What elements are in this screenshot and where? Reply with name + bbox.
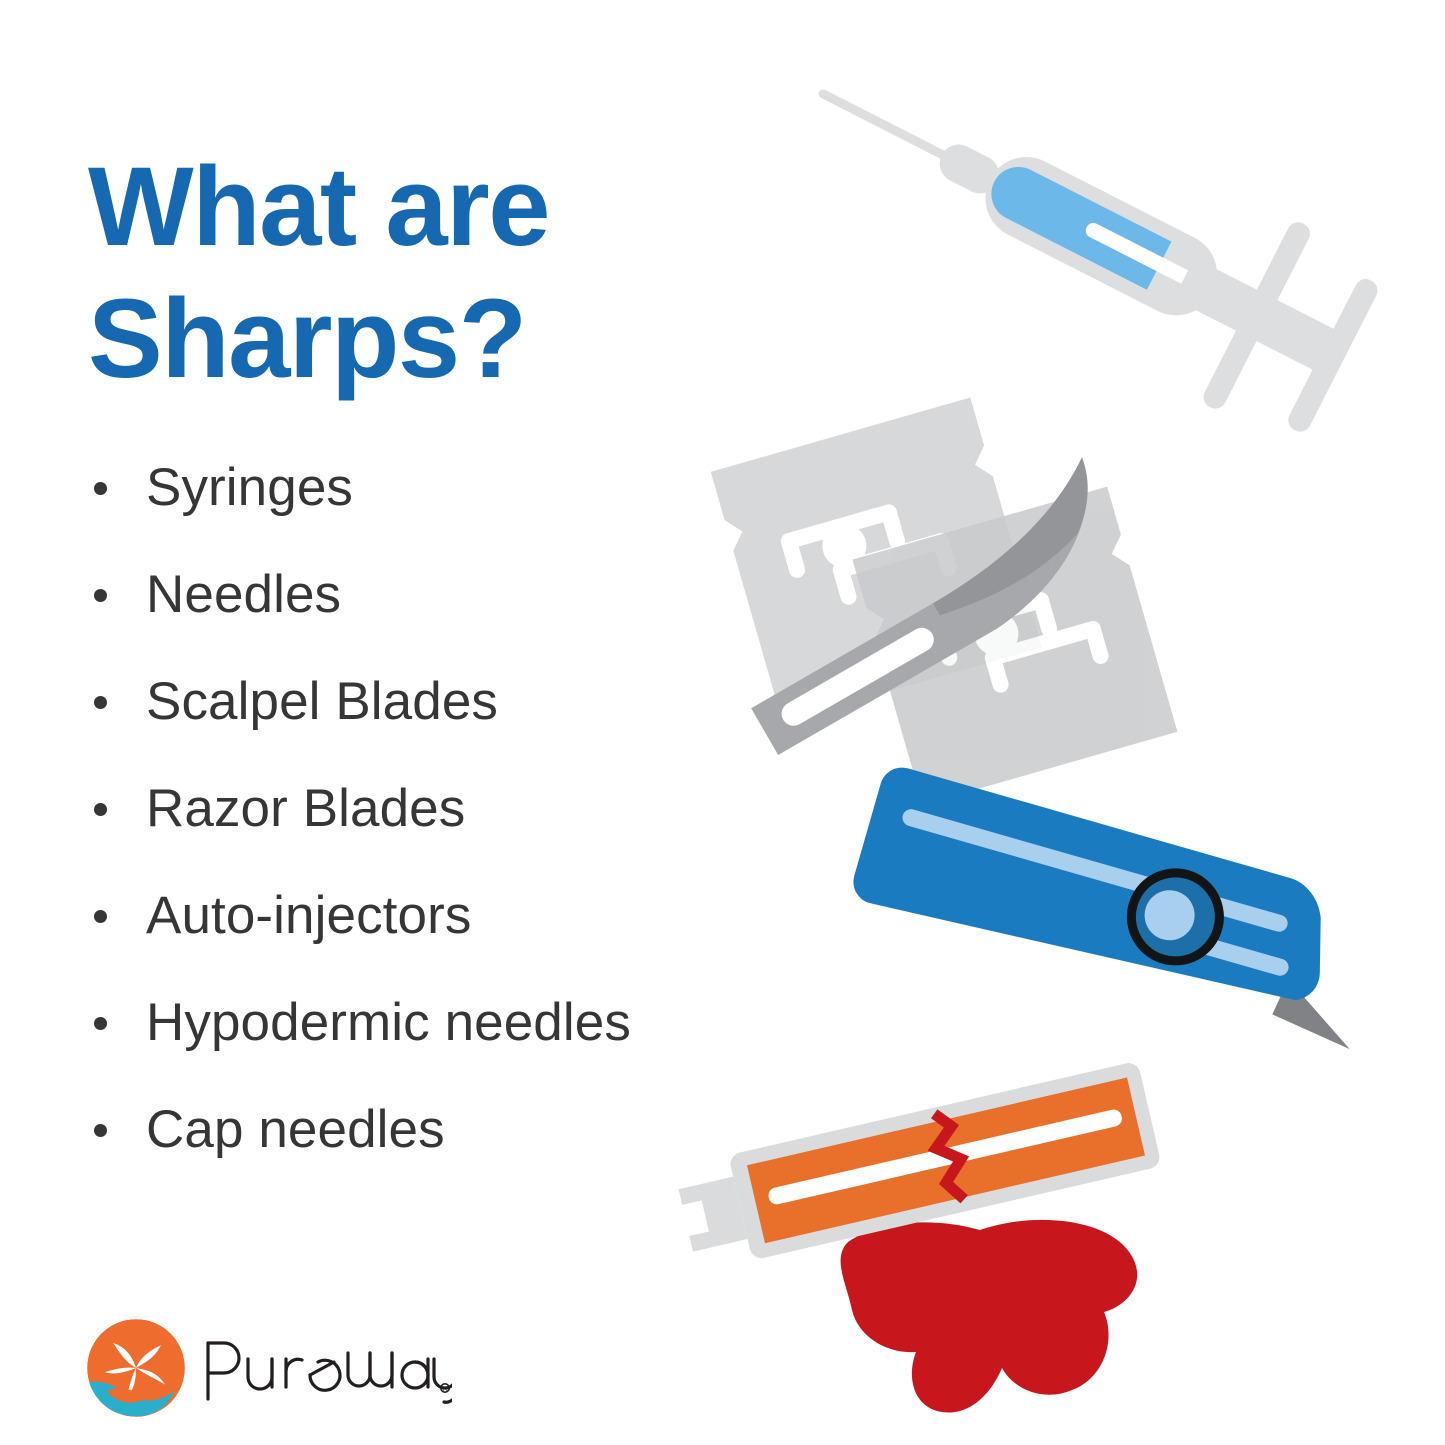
list-item-label: Needles xyxy=(146,565,341,624)
list-item-label: Auto-injectors xyxy=(146,886,471,945)
pureway-wordmark: R xyxy=(202,1329,452,1407)
list-item-label: Syringes xyxy=(146,458,353,517)
svg-text:R: R xyxy=(443,1387,448,1393)
list-item-label: Cap needles xyxy=(146,1100,445,1159)
syringe-needle xyxy=(817,88,955,164)
list-item-label: Razor Blades xyxy=(146,779,465,838)
sharps-infographic: What are Sharps? Syringes Needles Scalpe… xyxy=(0,0,1445,1445)
pureway-wordmark-glyphs: R xyxy=(202,1329,452,1407)
bullet-dot-icon xyxy=(94,696,107,709)
blades-illustration xyxy=(680,350,1260,770)
bullet-dot-icon xyxy=(94,1124,107,1137)
bullet-dot-icon xyxy=(94,910,107,923)
bullet-dot-icon xyxy=(94,1017,107,1030)
list-item: Auto-injectors xyxy=(88,880,788,987)
pureway-logo: R xyxy=(84,1316,452,1420)
bullet-dot-icon xyxy=(94,803,107,816)
broken-vial-illustration xyxy=(680,1060,1240,1445)
syringe-illustration xyxy=(795,78,1395,388)
list-item-label: Scalpel Blades xyxy=(146,672,498,731)
pureway-swirl-icon xyxy=(84,1316,188,1420)
box-cutter-illustration xyxy=(820,760,1400,1080)
blood-pool xyxy=(841,1220,1138,1413)
bullet-dot-icon xyxy=(94,589,107,602)
bullet-dot-icon xyxy=(94,482,107,495)
box-cutter-body xyxy=(848,762,1343,1028)
list-item-label: Hypodermic needles xyxy=(146,993,631,1052)
page-title: What are Sharps? xyxy=(88,141,728,405)
list-item: Razor Blades xyxy=(88,773,788,880)
